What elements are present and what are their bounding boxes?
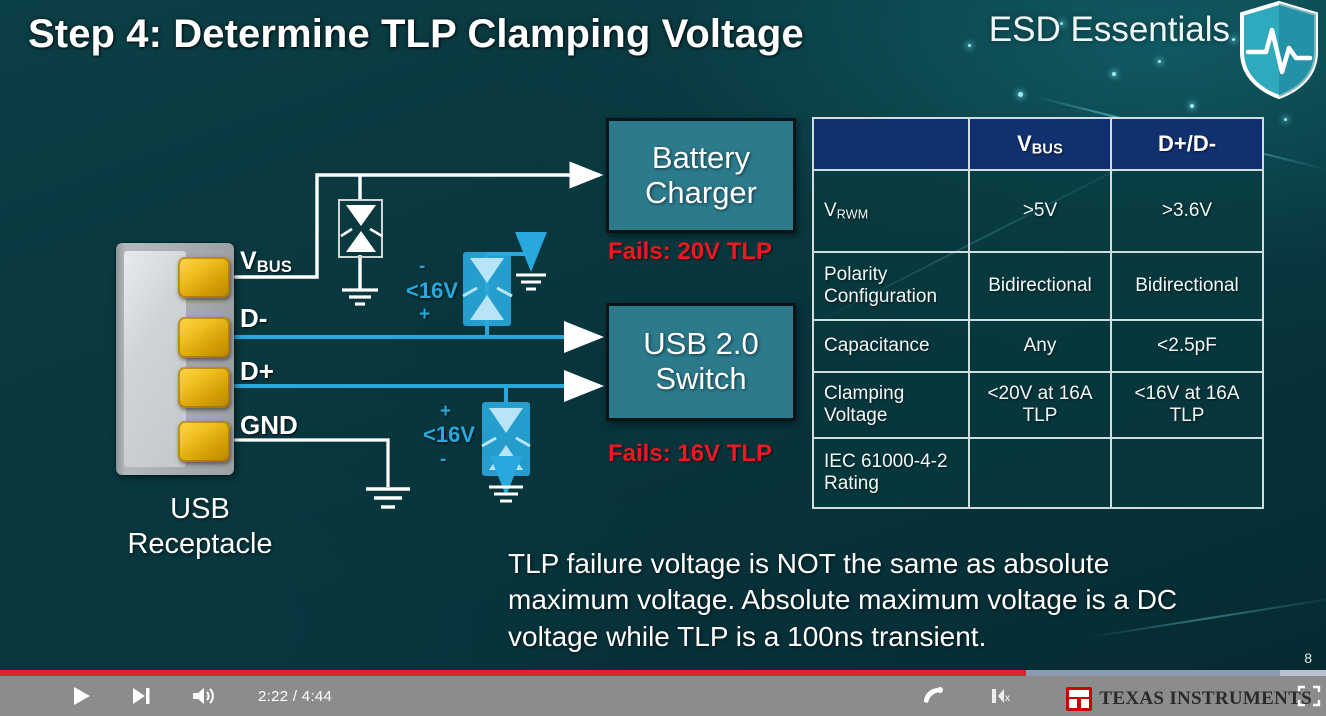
settings-button[interactable]: x: [988, 684, 1014, 708]
pin-label-dminus: D-: [240, 305, 267, 331]
cell-clamping-dpdm: <16V at 16A TLP: [1111, 372, 1263, 438]
tvs-lower-rating: <16V: [423, 424, 475, 446]
row-label-vrwm: VRWM: [813, 170, 969, 252]
spec-table: VBUS D+/D- VRWM >5V >3.6V Polarity Confi…: [812, 117, 1264, 509]
slide-caption: TLP failure voltage is NOT the same as a…: [508, 546, 1208, 655]
play-button[interactable]: [68, 684, 94, 708]
usb-receptacle: [116, 243, 234, 475]
cell-iec-dpdm: [1111, 438, 1263, 508]
receptacle-caption-line1: USB: [100, 492, 300, 527]
video-player-controls: 2:22 / 4:44 x TEXAS INSTRUMENTS: [0, 676, 1326, 716]
white-tvs-diode: [339, 200, 382, 257]
volume-button[interactable]: [190, 684, 216, 708]
battery-charger-line2: Charger: [645, 176, 757, 211]
pin-label-vbus: VBUS: [240, 249, 292, 275]
slide-number: 8: [1304, 650, 1312, 666]
battery-charger-line1: Battery: [645, 141, 757, 176]
receptacle-pin-vbus: [178, 257, 230, 298]
cell-capacitance-vbus: Any: [969, 320, 1111, 372]
next-button[interactable]: [128, 684, 154, 708]
cell-vrwm-dpdm: >3.6V: [1111, 170, 1263, 252]
pin-label-dplus: D+: [240, 358, 274, 384]
battery-charger-fail-note: Fails: 20V TLP: [608, 238, 772, 266]
cell-iec-vbus: [969, 438, 1111, 508]
tvs-lower-polarity-bottom: -: [440, 450, 446, 469]
progress-bar-track[interactable]: [0, 670, 1326, 676]
tvs-upper-polarity-top: -: [419, 257, 425, 276]
receptacle-caption: USB Receptacle: [100, 492, 300, 563]
header-blank: [813, 118, 969, 170]
receptacle-shell: [124, 251, 186, 467]
cell-polarity-dpdm: Bidirectional: [1111, 252, 1263, 320]
tvs-lower-polarity-top: +: [440, 402, 451, 421]
cell-clamping-vbus: <20V at 16A TLP: [969, 372, 1111, 438]
ground-symbol-white: [342, 290, 378, 304]
row-label-clamping: Clamping Voltage: [813, 372, 969, 438]
blue-tvs-lower: [482, 386, 530, 501]
slide-canvas: Step 4: Determine TLP Clamping Voltage E…: [0, 0, 1326, 676]
ti-mark-icon: [1065, 686, 1093, 712]
table-row: IEC 61000-4-2 Rating: [813, 438, 1263, 508]
usb-switch-line1: USB 2.0: [643, 327, 758, 362]
table-row: VRWM >5V >3.6V: [813, 170, 1263, 252]
usb-switch-block: USB 2.0 Switch: [606, 303, 796, 421]
slide-viewer: Step 4: Determine TLP Clamping Voltage E…: [0, 0, 1326, 716]
tvs-upper-polarity-bottom: +: [419, 305, 430, 324]
receptacle-pin-dplus: [178, 367, 230, 408]
receptacle-caption-line2: Receptacle: [100, 527, 300, 562]
cell-polarity-vbus: Bidirectional: [969, 252, 1111, 320]
table-row: Polarity Configuration Bidirectional Bid…: [813, 252, 1263, 320]
cell-vrwm-vbus: >5V: [969, 170, 1111, 252]
battery-charger-block: Battery Charger: [606, 118, 796, 233]
progress-bar-played: [0, 670, 1026, 676]
svg-text:x: x: [1005, 693, 1010, 704]
subtitles-button[interactable]: [920, 684, 946, 708]
row-label-iec: IEC 61000-4-2 Rating: [813, 438, 969, 508]
usb-switch-fail-note: Fails: 16V TLP: [608, 440, 772, 468]
time-display: 2:22 / 4:44: [258, 688, 332, 705]
header-vbus: VBUS: [969, 118, 1111, 170]
cell-capacitance-dpdm: <2.5pF: [1111, 320, 1263, 372]
row-label-polarity: Polarity Configuration: [813, 252, 969, 320]
row-label-capacitance: Capacitance: [813, 320, 969, 372]
ti-logo-text: TEXAS INSTRUMENTS: [1099, 688, 1312, 710]
receptacle-pin-dminus: [178, 317, 230, 358]
ti-logo: TEXAS INSTRUMENTS: [1065, 682, 1312, 716]
table-row: Clamping Voltage <20V at 16A TLP <16V at…: [813, 372, 1263, 438]
table-header-row: VBUS D+/D-: [813, 118, 1263, 170]
tvs-upper-rating: <16V: [406, 280, 458, 302]
usb-switch-line2: Switch: [643, 362, 758, 397]
header-dpdm: D+/D-: [1111, 118, 1263, 170]
blue-tvs-upper: [463, 252, 546, 337]
receptacle-pin-gnd: [178, 421, 230, 462]
table-row: Capacitance Any <2.5pF: [813, 320, 1263, 372]
pin-label-gnd: GND: [240, 412, 298, 438]
